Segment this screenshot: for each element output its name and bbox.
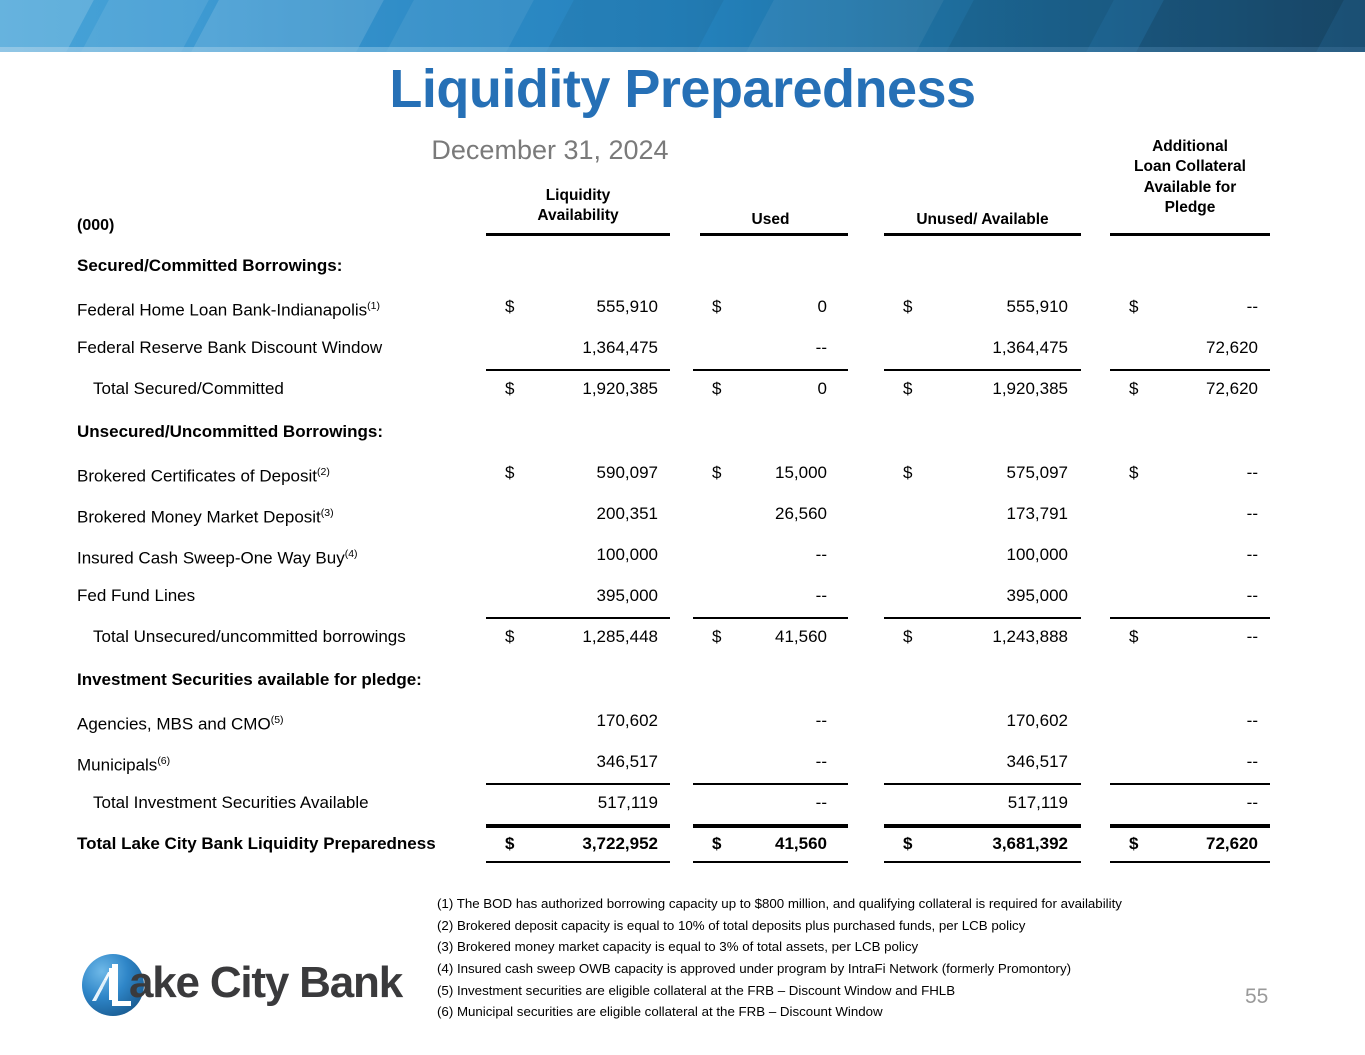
table-cell-c2: 0 (693, 286, 827, 327)
header-rule (1110, 233, 1270, 236)
row-label: Agencies, MBS and CMO(5) (77, 700, 284, 745)
table-cell-c4: 72,620 (1110, 823, 1258, 864)
footnote-marker: (5) (271, 714, 284, 726)
table-cell-c3: 100,000 (884, 534, 1068, 575)
table-cell-c3: 1,243,888 (884, 616, 1068, 657)
header-rule (884, 233, 1081, 236)
row-label: Federal Reserve Bank Discount Window (77, 327, 382, 368)
table-cell-c2: -- (693, 700, 827, 741)
units-label: (000) (77, 217, 114, 235)
footnote-2: (2) Brokered deposit capacity is equal t… (437, 915, 1237, 937)
table-cell-c4: -- (1110, 493, 1258, 534)
footnote-marker: (1) (367, 300, 380, 312)
table-cell-c1: 200,351 (486, 493, 658, 534)
footnote-marker: (6) (157, 755, 170, 767)
header-rule (700, 233, 848, 236)
table-cell-c1: 100,000 (486, 534, 658, 575)
table-cell-c2: 41,560 (693, 823, 827, 864)
table-cell-c4: 72,620 (1110, 327, 1258, 368)
table-row: Total Unsecured/uncommitted borrowings$1… (0, 616, 1365, 657)
table-row: Federal Reserve Bank Discount Window1,36… (0, 327, 1365, 368)
grand-total-rule-bottom (1110, 861, 1270, 863)
row-label: Total Investment Securities Available (93, 782, 369, 823)
grand-total-rule-bottom (486, 861, 670, 863)
table-cell-c1: 1,920,385 (486, 368, 658, 409)
column-header-used: Used (693, 210, 848, 230)
table-row: Total Lake City Bank Liquidity Preparedn… (0, 823, 1365, 864)
column-header-unused-available: Unused/ Available (884, 210, 1081, 230)
table-row: Brokered Certificates of Deposit(2)$590,… (0, 452, 1365, 493)
table-cell-c4: -- (1110, 741, 1258, 782)
table-cell-c3: 3,681,392 (884, 823, 1068, 864)
table-row: Total Investment Securities Available517… (0, 782, 1365, 823)
table-cell-c3: 173,791 (884, 493, 1068, 534)
table-cell-c4: -- (1110, 575, 1258, 616)
logo-wordmark: ake City Bank (129, 958, 402, 1008)
column-header-liquidity-availability: Liquidity Availability (486, 186, 670, 227)
row-label: Municipals(6) (77, 741, 170, 786)
table-cell-c3: 1,920,385 (884, 368, 1068, 409)
table-cell-c2: -- (693, 534, 827, 575)
lake-city-bank-logo: ake City Bank (82, 952, 422, 1024)
table-cell-c4: -- (1110, 452, 1258, 493)
table-row: Brokered Money Market Deposit(3)200,3512… (0, 493, 1365, 534)
table-cell-c2: 15,000 (693, 452, 827, 493)
table-cell-c3: 346,517 (884, 741, 1068, 782)
footnote-3: (3) Brokered money market capacity is eq… (437, 936, 1237, 958)
table-cell-c4: -- (1110, 782, 1258, 823)
grand-total-rule-bottom (693, 861, 848, 863)
row-label: Secured/Committed Borrowings: (77, 245, 342, 286)
row-label: Investment Securities available for pled… (77, 659, 422, 700)
row-label: Fed Fund Lines (77, 575, 195, 616)
row-label: Total Lake City Bank Liquidity Preparedn… (77, 823, 436, 864)
table-cell-c2: 0 (693, 368, 827, 409)
row-label: Brokered Certificates of Deposit(2) (77, 452, 330, 497)
footnote-4: (4) Insured cash sweep OWB capacity is a… (437, 958, 1237, 980)
footnote-1: (1) The BOD has authorized borrowing cap… (437, 893, 1237, 915)
footnote-marker: (3) (321, 507, 334, 519)
table-cell-c4: -- (1110, 534, 1258, 575)
table-cell-c2: -- (693, 782, 827, 823)
row-label: Federal Home Loan Bank-Indianapolis(1) (77, 286, 380, 331)
table-row: Federal Home Loan Bank-Indianapolis(1)$5… (0, 286, 1365, 327)
footnote-marker: (4) (345, 548, 358, 560)
table-row: Agencies, MBS and CMO(5)170,602--170,602… (0, 700, 1365, 741)
table-cell-c1: 1,364,475 (486, 327, 658, 368)
page-number: 55 (1245, 985, 1268, 1009)
table-cell-c1: 346,517 (486, 741, 658, 782)
table-cell-c3: 555,910 (884, 286, 1068, 327)
table-cell-c1: 555,910 (486, 286, 658, 327)
table-cell-c3: 517,119 (884, 782, 1068, 823)
table-cell-c4: -- (1110, 616, 1258, 657)
row-label: Unsecured/Uncommitted Borrowings: (77, 411, 383, 452)
table-cell-c1: 3,722,952 (486, 823, 658, 864)
table-row: Total Secured/Committed$1,920,385$0$1,92… (0, 368, 1365, 409)
table-cell-c1: 517,119 (486, 782, 658, 823)
footnote-6: (6) Municipal securities are eligible co… (437, 1001, 1237, 1023)
table-cell-c1: 1,285,448 (486, 616, 658, 657)
table-cell-c2: 41,560 (693, 616, 827, 657)
footnotes: (1) The BOD has authorized borrowing cap… (437, 893, 1237, 1023)
grand-total-rule-bottom (884, 861, 1081, 863)
table-cell-c2: -- (693, 327, 827, 368)
table-cell-c2: 26,560 (693, 493, 827, 534)
table-cell-c3: 395,000 (884, 575, 1068, 616)
header-rule (486, 233, 670, 236)
table-cell-c1: 170,602 (486, 700, 658, 741)
table-cell-c2: -- (693, 741, 827, 782)
row-label: Brokered Money Market Deposit(3) (77, 493, 334, 538)
table-section-header: Investment Securities available for pled… (0, 659, 1365, 700)
table-row: Fed Fund Lines395,000--395,000-- (0, 575, 1365, 616)
table-cell-c3: 170,602 (884, 700, 1068, 741)
footnote-5: (5) Investment securities are eligible c… (437, 980, 1237, 1002)
footnote-marker: (2) (317, 466, 330, 478)
table-cell-c1: 395,000 (486, 575, 658, 616)
table-cell-c4: 72,620 (1110, 368, 1258, 409)
column-header-additional-collateral: Additional Loan Collateral Available for… (1110, 137, 1270, 219)
table-row: Insured Cash Sweep-One Way Buy(4)100,000… (0, 534, 1365, 575)
table-cell-c3: 1,364,475 (884, 327, 1068, 368)
table-section-header: Secured/Committed Borrowings: (0, 245, 1365, 286)
table-section-header: Unsecured/Uncommitted Borrowings: (0, 411, 1365, 452)
table-cell-c2: -- (693, 575, 827, 616)
table-cell-c4: -- (1110, 700, 1258, 741)
table-cell-c1: 590,097 (486, 452, 658, 493)
row-label: Total Unsecured/uncommitted borrowings (93, 616, 406, 657)
table-cell-c4: -- (1110, 286, 1258, 327)
table-row: Municipals(6)346,517--346,517-- (0, 741, 1365, 782)
row-label: Insured Cash Sweep-One Way Buy(4) (77, 534, 358, 579)
table-cell-c3: 575,097 (884, 452, 1068, 493)
row-label: Total Secured/Committed (93, 368, 284, 409)
